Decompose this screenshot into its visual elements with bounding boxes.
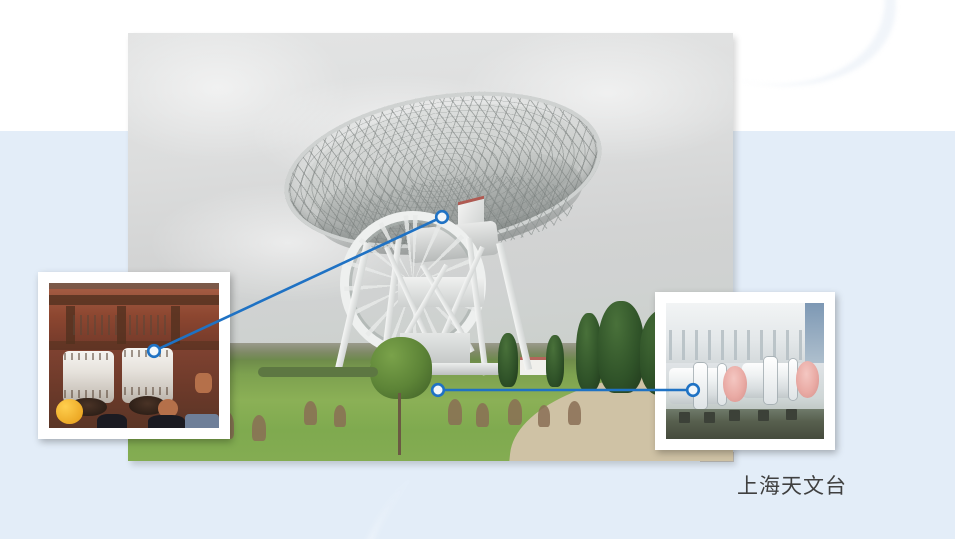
cylinder-bolt-ring [124, 387, 172, 394]
worker-legs [185, 414, 219, 429]
frame-beam [171, 306, 180, 344]
bolt-row [73, 315, 117, 335]
shrub [568, 401, 581, 425]
cylinder-bolt-ring [124, 350, 172, 357]
hedge-row [258, 367, 378, 377]
lawn-tree-canopy [370, 337, 432, 399]
worker-body [148, 415, 185, 428]
conifer-tree [546, 335, 564, 387]
shrub [538, 405, 550, 427]
base-bolt [758, 410, 769, 421]
inset-left-image [49, 283, 219, 428]
inset-right-image [666, 303, 824, 439]
housing-ribs [669, 330, 802, 360]
worker-arm [195, 373, 212, 393]
frame-beam [49, 295, 219, 305]
conifer-tree [598, 301, 644, 393]
cylinder-bolt-ring [64, 353, 112, 360]
worker-body [97, 414, 128, 429]
base-bolt [679, 412, 690, 423]
base-bolt [704, 412, 715, 423]
pink-end-cap [796, 361, 820, 398]
cylinder-bolt-ring [64, 390, 112, 397]
base-bolt [786, 409, 797, 420]
actuator-flange [764, 357, 777, 403]
base-bolt [729, 410, 740, 421]
bolt-row [129, 315, 170, 335]
base-frame [666, 409, 824, 439]
slide-canvas: 上海天文台 [0, 0, 955, 539]
safety-helmet [56, 399, 83, 424]
inset-left-photo[interactable] [38, 272, 230, 439]
shrub [508, 399, 522, 425]
inset-right-photo[interactable] [655, 292, 835, 450]
shrub [476, 403, 489, 427]
shrub [304, 401, 317, 425]
shrub [252, 415, 266, 441]
actuator-flange [694, 363, 707, 409]
conifer-tree [498, 333, 518, 387]
lawn-tree-trunk [398, 393, 401, 455]
shrub [448, 399, 462, 425]
photo-caption: 上海天文台 [737, 470, 847, 500]
frame-beam [117, 306, 126, 344]
pink-end-cap [723, 366, 747, 403]
shrub [334, 405, 346, 427]
